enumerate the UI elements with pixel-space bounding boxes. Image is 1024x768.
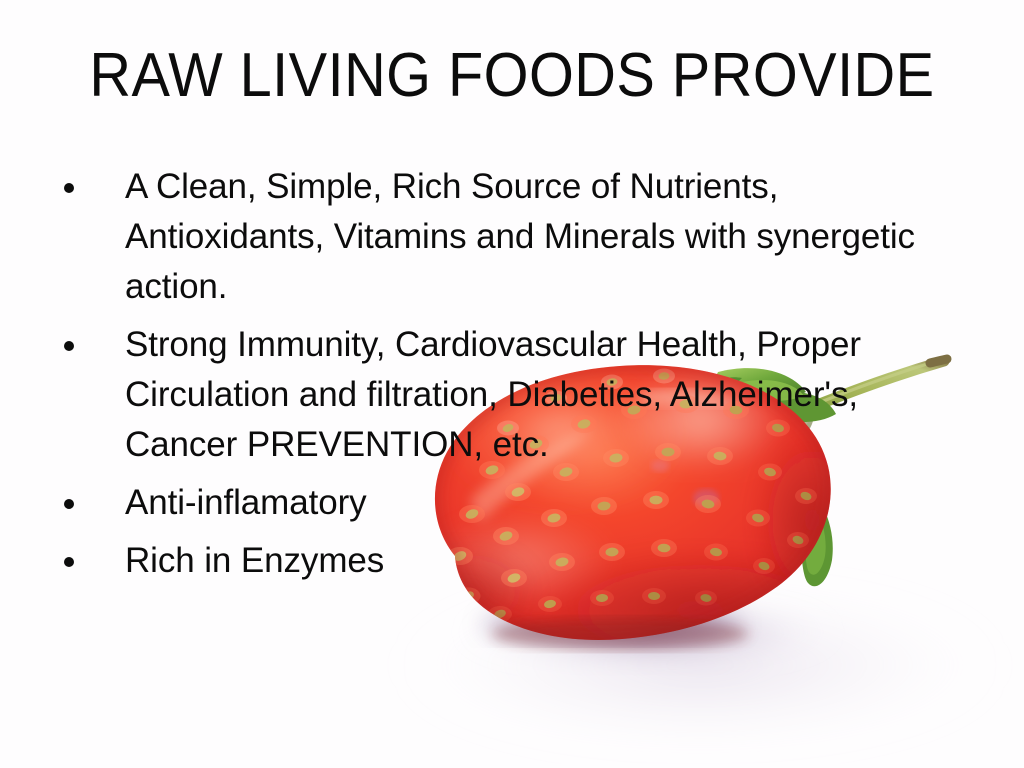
bullet-dot-icon — [64, 183, 74, 193]
list-item: Rich in Enzymes — [52, 536, 952, 586]
list-item-text: Rich in Enzymes — [125, 536, 952, 586]
list-item: A Clean, Simple, Rich Source of Nutrient… — [52, 162, 952, 312]
list-item-text: Strong Immunity, Cardiovascular Health, … — [125, 320, 952, 470]
list-item-text: A Clean, Simple, Rich Source of Nutrient… — [125, 162, 952, 312]
page-title: RAW LIVING FOODS PROVIDE — [36, 44, 988, 108]
list-item-text: Anti-inflamatory — [125, 478, 952, 528]
presentation-slide: RAW LIVING FOODS PROVIDE A Clean, Simple… — [0, 0, 1024, 768]
bullet-dot-icon — [64, 341, 74, 351]
list-item: Anti-inflamatory — [52, 478, 952, 528]
bullet-dot-icon — [64, 499, 74, 509]
bullet-dot-icon — [64, 557, 74, 567]
slide-content: RAW LIVING FOODS PROVIDE A Clean, Simple… — [0, 0, 1024, 768]
list-item: Strong Immunity, Cardiovascular Health, … — [52, 320, 952, 470]
bullet-list: A Clean, Simple, Rich Source of Nutrient… — [52, 162, 952, 586]
